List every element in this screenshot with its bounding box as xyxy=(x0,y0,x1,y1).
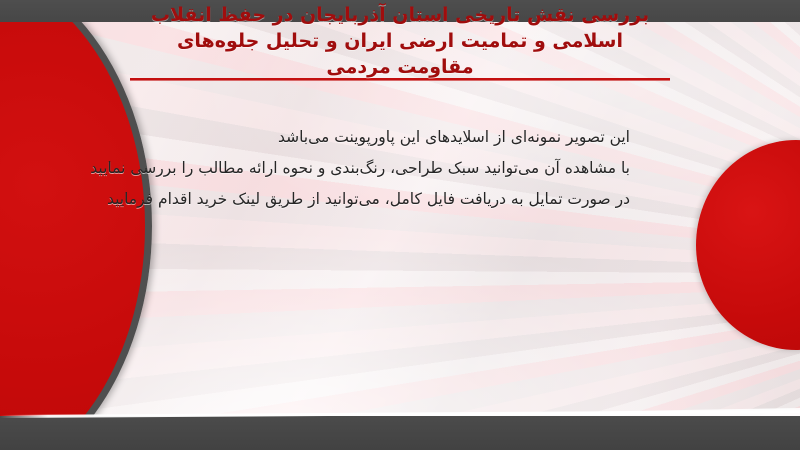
bottom-dark-bar xyxy=(0,416,800,450)
slide-title: بررسی نقش تاریخی استان آذربایجان در حفظ … xyxy=(120,2,680,80)
slide-title-line-1: بررسی نقش تاریخی استان آذربایجان در حفظ … xyxy=(120,2,680,28)
slide-body-text: این تصویر نمونه‌ای از اسلایدهای این پاور… xyxy=(150,122,630,215)
slide-body-line-3: در صورت تمایل به دریافت فایل کامل، می‌تو… xyxy=(150,184,630,215)
presentation-slide: بررسی نقش تاریخی استان آذربایجان در حفظ … xyxy=(0,0,800,450)
slide-body-line-1: این تصویر نمونه‌ای از اسلایدهای این پاور… xyxy=(150,122,630,153)
slide-title-line-2: اسلامی و تمامیت ارضی ایران و تحلیل جلوه‌… xyxy=(120,28,680,54)
slide-body-line-2: با مشاهده آن می‌توانید سبک طراحی، رنگ‌بن… xyxy=(150,153,630,184)
slide-title-line-3: مقاومت مردمی xyxy=(322,54,477,80)
